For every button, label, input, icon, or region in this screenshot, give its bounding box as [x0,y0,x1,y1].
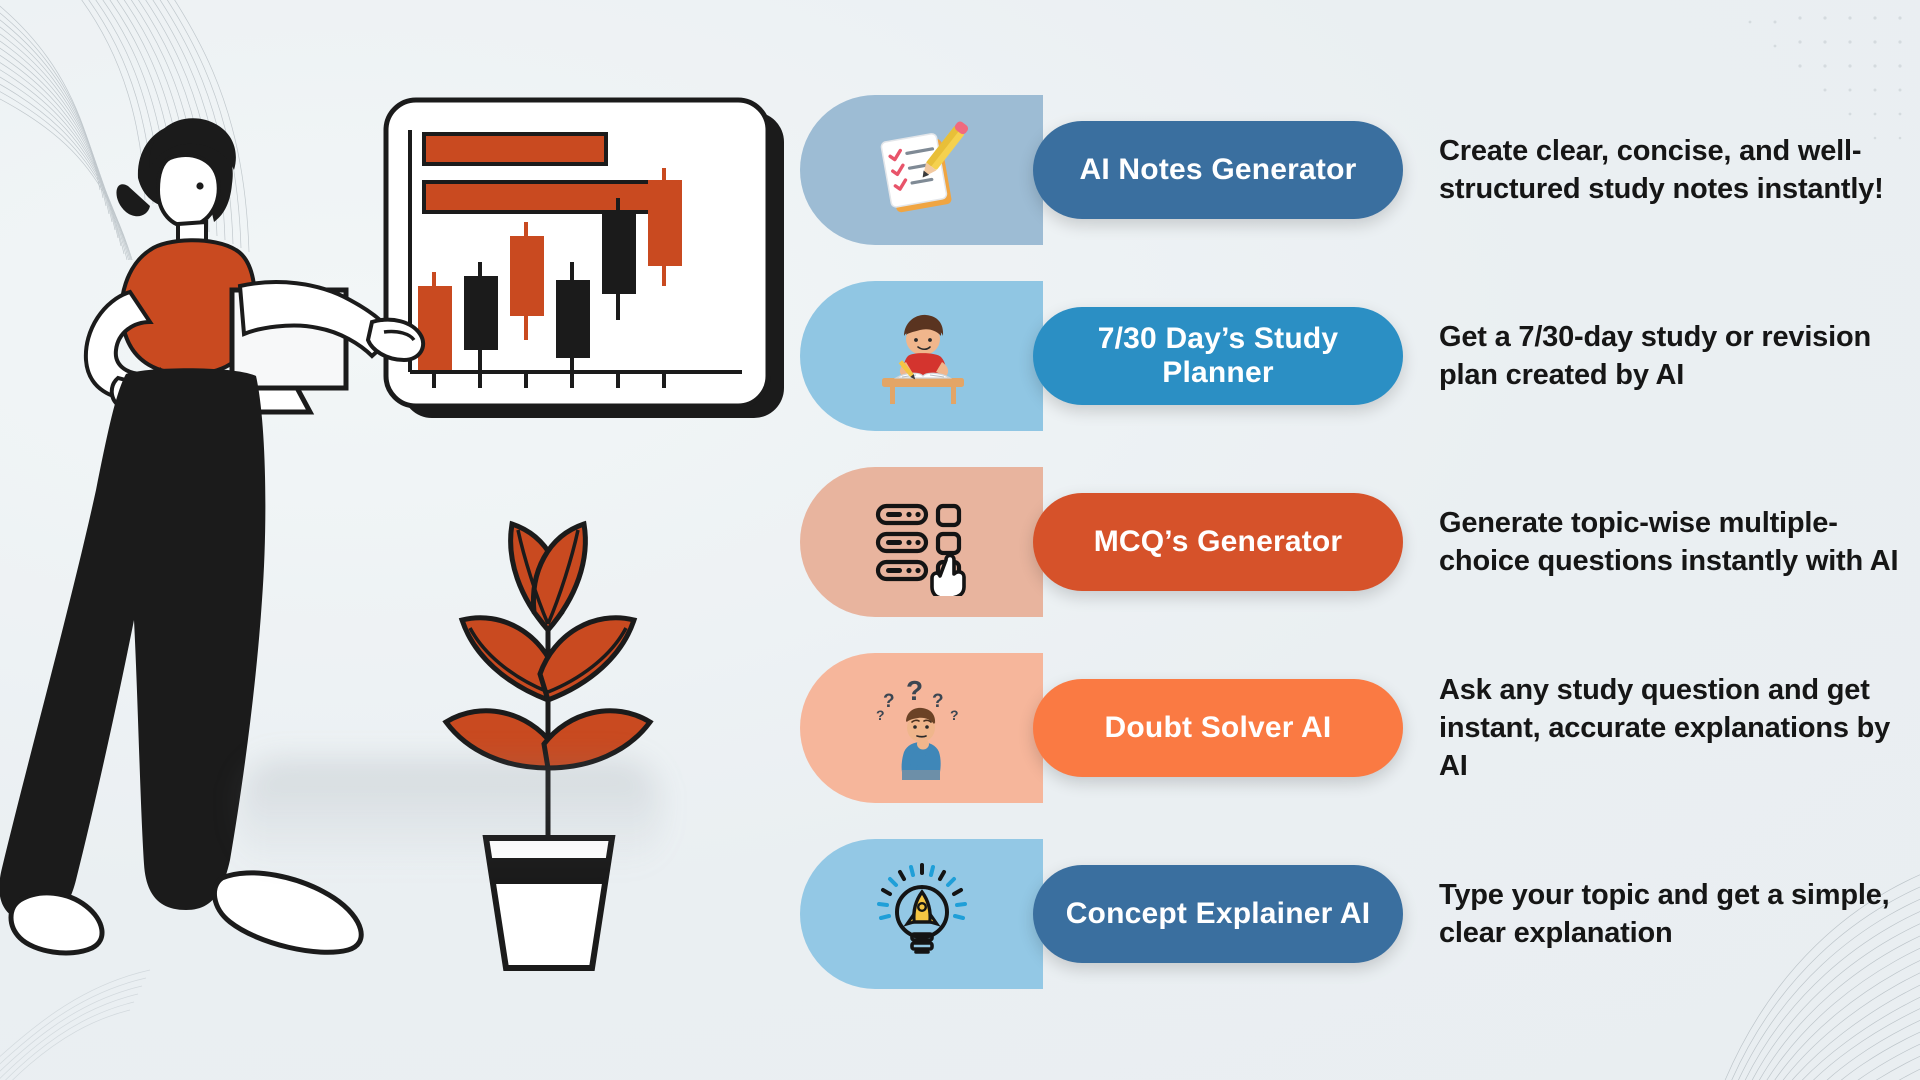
feature-pill-study-planner[interactable]: 7/30 Day’s Study Planner [1033,307,1403,405]
woman-holding-laptop-illustration [0,118,423,953]
feature-pill-ai-notes-generator[interactable]: AI Notes Generator [1033,121,1403,219]
feature-pill-doubt-solver-ai[interactable]: Doubt Solver AI [1033,679,1403,777]
notes-checklist-pencil-icon [868,116,976,224]
candlestick-chart-board [386,100,784,418]
icon-capsule-study-planner [800,281,1043,431]
feature-pill-mcq-generator[interactable]: MCQ’s Generator [1033,493,1403,591]
feature-pill-concept-explainer-ai[interactable]: Concept Explainer AI [1033,865,1403,963]
lightbulb-rocket-idea-icon [868,860,976,968]
checkbox-list-pointer-icon [868,488,976,596]
svg-text:?: ? [906,675,923,706]
feature-label: MCQ’s Generator [1094,525,1343,559]
potted-plant-illustration [446,524,650,968]
svg-text:?: ? [883,691,895,712]
svg-text:?: ? [950,707,959,723]
feature-row-concept-explainer-ai[interactable]: Concept Explainer AI Type your topic and… [800,839,1900,989]
feature-row-mcq-generator[interactable]: MCQ’s Generator Generate topic-wise mult… [800,467,1900,617]
feature-row-ai-notes-generator[interactable]: AI Notes Generator Create clear, concise… [800,95,1900,245]
left-illustration-group [0,0,820,1080]
feature-description-study-planner: Get a 7/30-day study or revision plan cr… [1439,318,1900,395]
icon-capsule-ai-notes-generator [800,95,1043,245]
student-studying-desk-icon [868,302,976,410]
infographic-canvas: AI Notes Generator Create clear, concise… [0,0,1920,1080]
icon-capsule-doubt-solver-ai: ? ? ? ? ? [800,653,1043,803]
svg-text:?: ? [932,691,944,712]
feature-row-study-planner[interactable]: 7/30 Day’s Study Planner Get a 7/30-day … [800,281,1900,431]
feature-row-doubt-solver-ai[interactable]: ? ? ? ? ? [800,653,1900,803]
feature-description-mcq-generator: Generate topic-wise multiple-choice ques… [1439,504,1900,581]
svg-text:?: ? [876,707,885,723]
feature-list: AI Notes Generator Create clear, concise… [800,95,1900,1025]
icon-capsule-mcq-generator [800,467,1043,617]
feature-label: Doubt Solver AI [1105,711,1332,745]
thinking-person-question-marks-icon: ? ? ? ? ? [868,674,976,782]
feature-label: Concept Explainer AI [1066,897,1371,931]
feature-label: AI Notes Generator [1080,153,1357,187]
feature-description-doubt-solver-ai: Ask any study question and get instant, … [1439,671,1900,786]
icon-capsule-concept-explainer-ai [800,839,1043,989]
feature-label: 7/30 Day’s Study Planner [1047,322,1389,390]
feature-description-concept-explainer-ai: Type your topic and get a simple, clear … [1439,876,1900,953]
feature-description-ai-notes-generator: Create clear, concise, and well-structur… [1439,132,1900,209]
